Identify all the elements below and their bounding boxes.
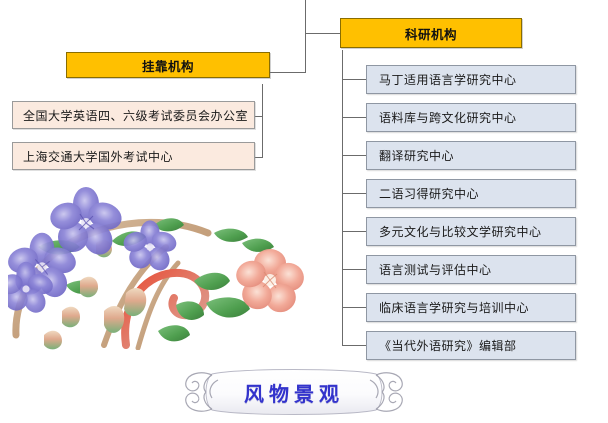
node-affiliated-title[interactable]: 挂靠机构 [66,52,270,78]
node-research-child-7-label: 临床语言学研究与培训中心 [379,299,529,316]
node-research-title-label: 科研机构 [405,24,457,43]
node-research-child-3-label: 翻译研究中心 [379,147,454,164]
illustration-purple-flower-4 [8,262,56,316]
connector-research-stub-4 [342,193,366,194]
node-affiliated-child-1[interactable]: 全国大学英语四、六级考试委员会办公室 [12,101,255,129]
node-research-child-3[interactable]: 翻译研究中心 [366,141,576,170]
node-research-child-5-label: 多元文化与比较文学研究中心 [379,223,542,240]
node-research-child-6-label: 语言测试与评估中心 [379,261,492,278]
node-research-child-7[interactable]: 临床语言学研究与培训中心 [366,293,576,322]
illustration-buds [44,240,146,349]
watercolor-flower-illustration [8,185,338,350]
illustration-spiral [125,273,205,345]
connector-to-affiliated [270,72,306,73]
illustration-purple-flower-2 [121,220,179,274]
illustration-stems [16,222,208,348]
node-research-child-1[interactable]: 马丁适用语言学研究中心 [366,65,576,94]
connector-trunk-vertical [305,0,306,72]
connector-to-research [305,33,340,34]
connector-affiliated-spine [262,84,263,157]
node-affiliated-title-label: 挂靠机构 [142,56,194,75]
node-affiliated-child-1-label: 全国大学英语四、六级考试委员会办公室 [23,107,248,124]
connector-research-stub-5 [342,231,366,232]
illustration-purple-flower-1 [47,187,126,259]
node-affiliated-child-2[interactable]: 上海交通大学国外考试中心 [12,142,255,170]
illustration-purple-flower-3 [8,233,79,302]
node-research-child-1-label: 马丁适用语言学研究中心 [379,71,517,88]
node-research-child-5[interactable]: 多元文化与比较文学研究中心 [366,217,576,246]
banner-title-label: 风物景观 [244,378,344,407]
connector-research-stub-7 [342,307,366,308]
connector-research-spine [342,50,343,346]
connector-research-stub-6 [342,269,366,270]
node-research-title[interactable]: 科研机构 [340,18,522,48]
connector-research-stub-3 [342,155,366,156]
node-affiliated-child-2-label: 上海交通大学国外考试中心 [23,148,173,165]
node-research-child-2-label: 语料库与跨文化研究中心 [379,109,517,126]
node-research-child-6[interactable]: 语言测试与评估中心 [366,255,576,284]
connector-research-stub-8 [342,345,366,346]
node-research-child-2[interactable]: 语料库与跨文化研究中心 [366,103,576,132]
connector-research-stub-1 [342,79,366,80]
connector-research-stub-2 [342,117,366,118]
illustration-pink-flower [232,249,307,317]
connector-affiliated-stub-2 [255,157,263,158]
connector-affiliated-stub-1 [255,116,263,117]
node-research-child-8-label: 《当代外语研究》编辑部 [379,337,517,354]
org-chart-page: 科研机构 挂靠机构 全国大学英语四、六级考试委员会办公室 上海交通大学国外考试中… [0,0,608,423]
decorative-banner: 风物景观 [178,366,410,418]
node-research-child-4[interactable]: 二语习得研究中心 [366,179,576,208]
illustration-leaves [38,218,274,341]
banner-title: 风物景观 [178,366,410,418]
node-research-child-8[interactable]: 《当代外语研究》编辑部 [366,331,576,360]
node-research-child-4-label: 二语习得研究中心 [379,185,479,202]
